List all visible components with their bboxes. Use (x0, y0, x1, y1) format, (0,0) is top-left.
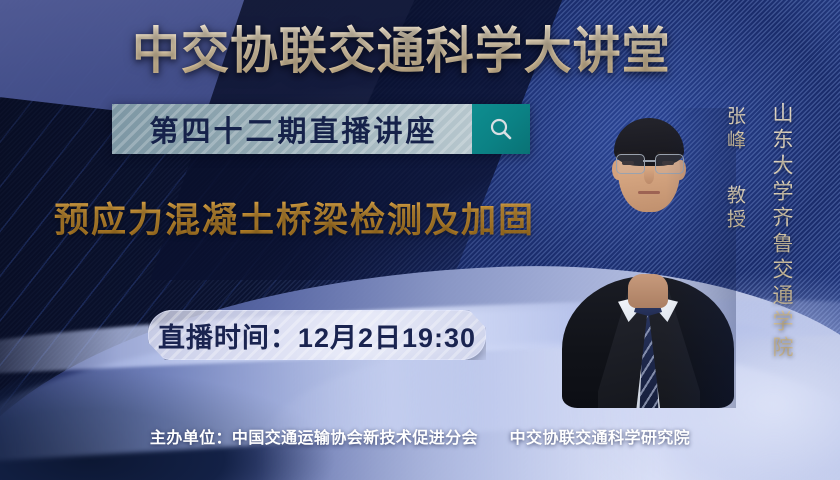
footer-organizer-label: 主办单位：中国交通运输协会新技术促进分会 (150, 430, 478, 447)
speaker-organization: 山东大学齐鲁交通学院 (766, 102, 796, 362)
broadcast-time-badge: 直播时间：12月2日19:30 (148, 310, 486, 360)
speaker-role: 教授 (720, 185, 748, 233)
portrait-mouth (638, 191, 660, 194)
broadcast-time-label: 直播时间：12月2日19:30 (158, 316, 476, 355)
live-lecture-poster: 中交协联交通科学大讲堂 第四十二期直播讲座 预应力混凝土桥梁检测及加固 直播时间… (0, 0, 840, 480)
lecture-title: 预应力混凝土桥梁检测及加固 (54, 192, 574, 243)
footer-organizers: 主办单位：中国交通运输协会新技术促进分会 中交协联交通科学研究院 (0, 424, 840, 448)
glasses-bridge (643, 160, 655, 162)
glasses-lens-left (616, 154, 645, 174)
search-icon (488, 116, 514, 142)
episode-banner-fill: 第四十二期直播讲座 (112, 104, 472, 154)
footer-institute: 中交协联交通科学研究院 (510, 430, 690, 447)
portrait-neck (628, 274, 668, 308)
glasses-lens-right (655, 154, 684, 174)
search-button[interactable] (472, 104, 530, 154)
speaker-name: 张峰 (720, 106, 748, 154)
page-title: 中交协联交通科学大讲堂 (132, 16, 675, 78)
episode-label: 第四十二期直播讲座 (146, 108, 437, 150)
portrait-nose (644, 168, 654, 184)
episode-banner: 第四十二期直播讲座 (112, 104, 530, 154)
speaker-portrait (560, 108, 736, 408)
